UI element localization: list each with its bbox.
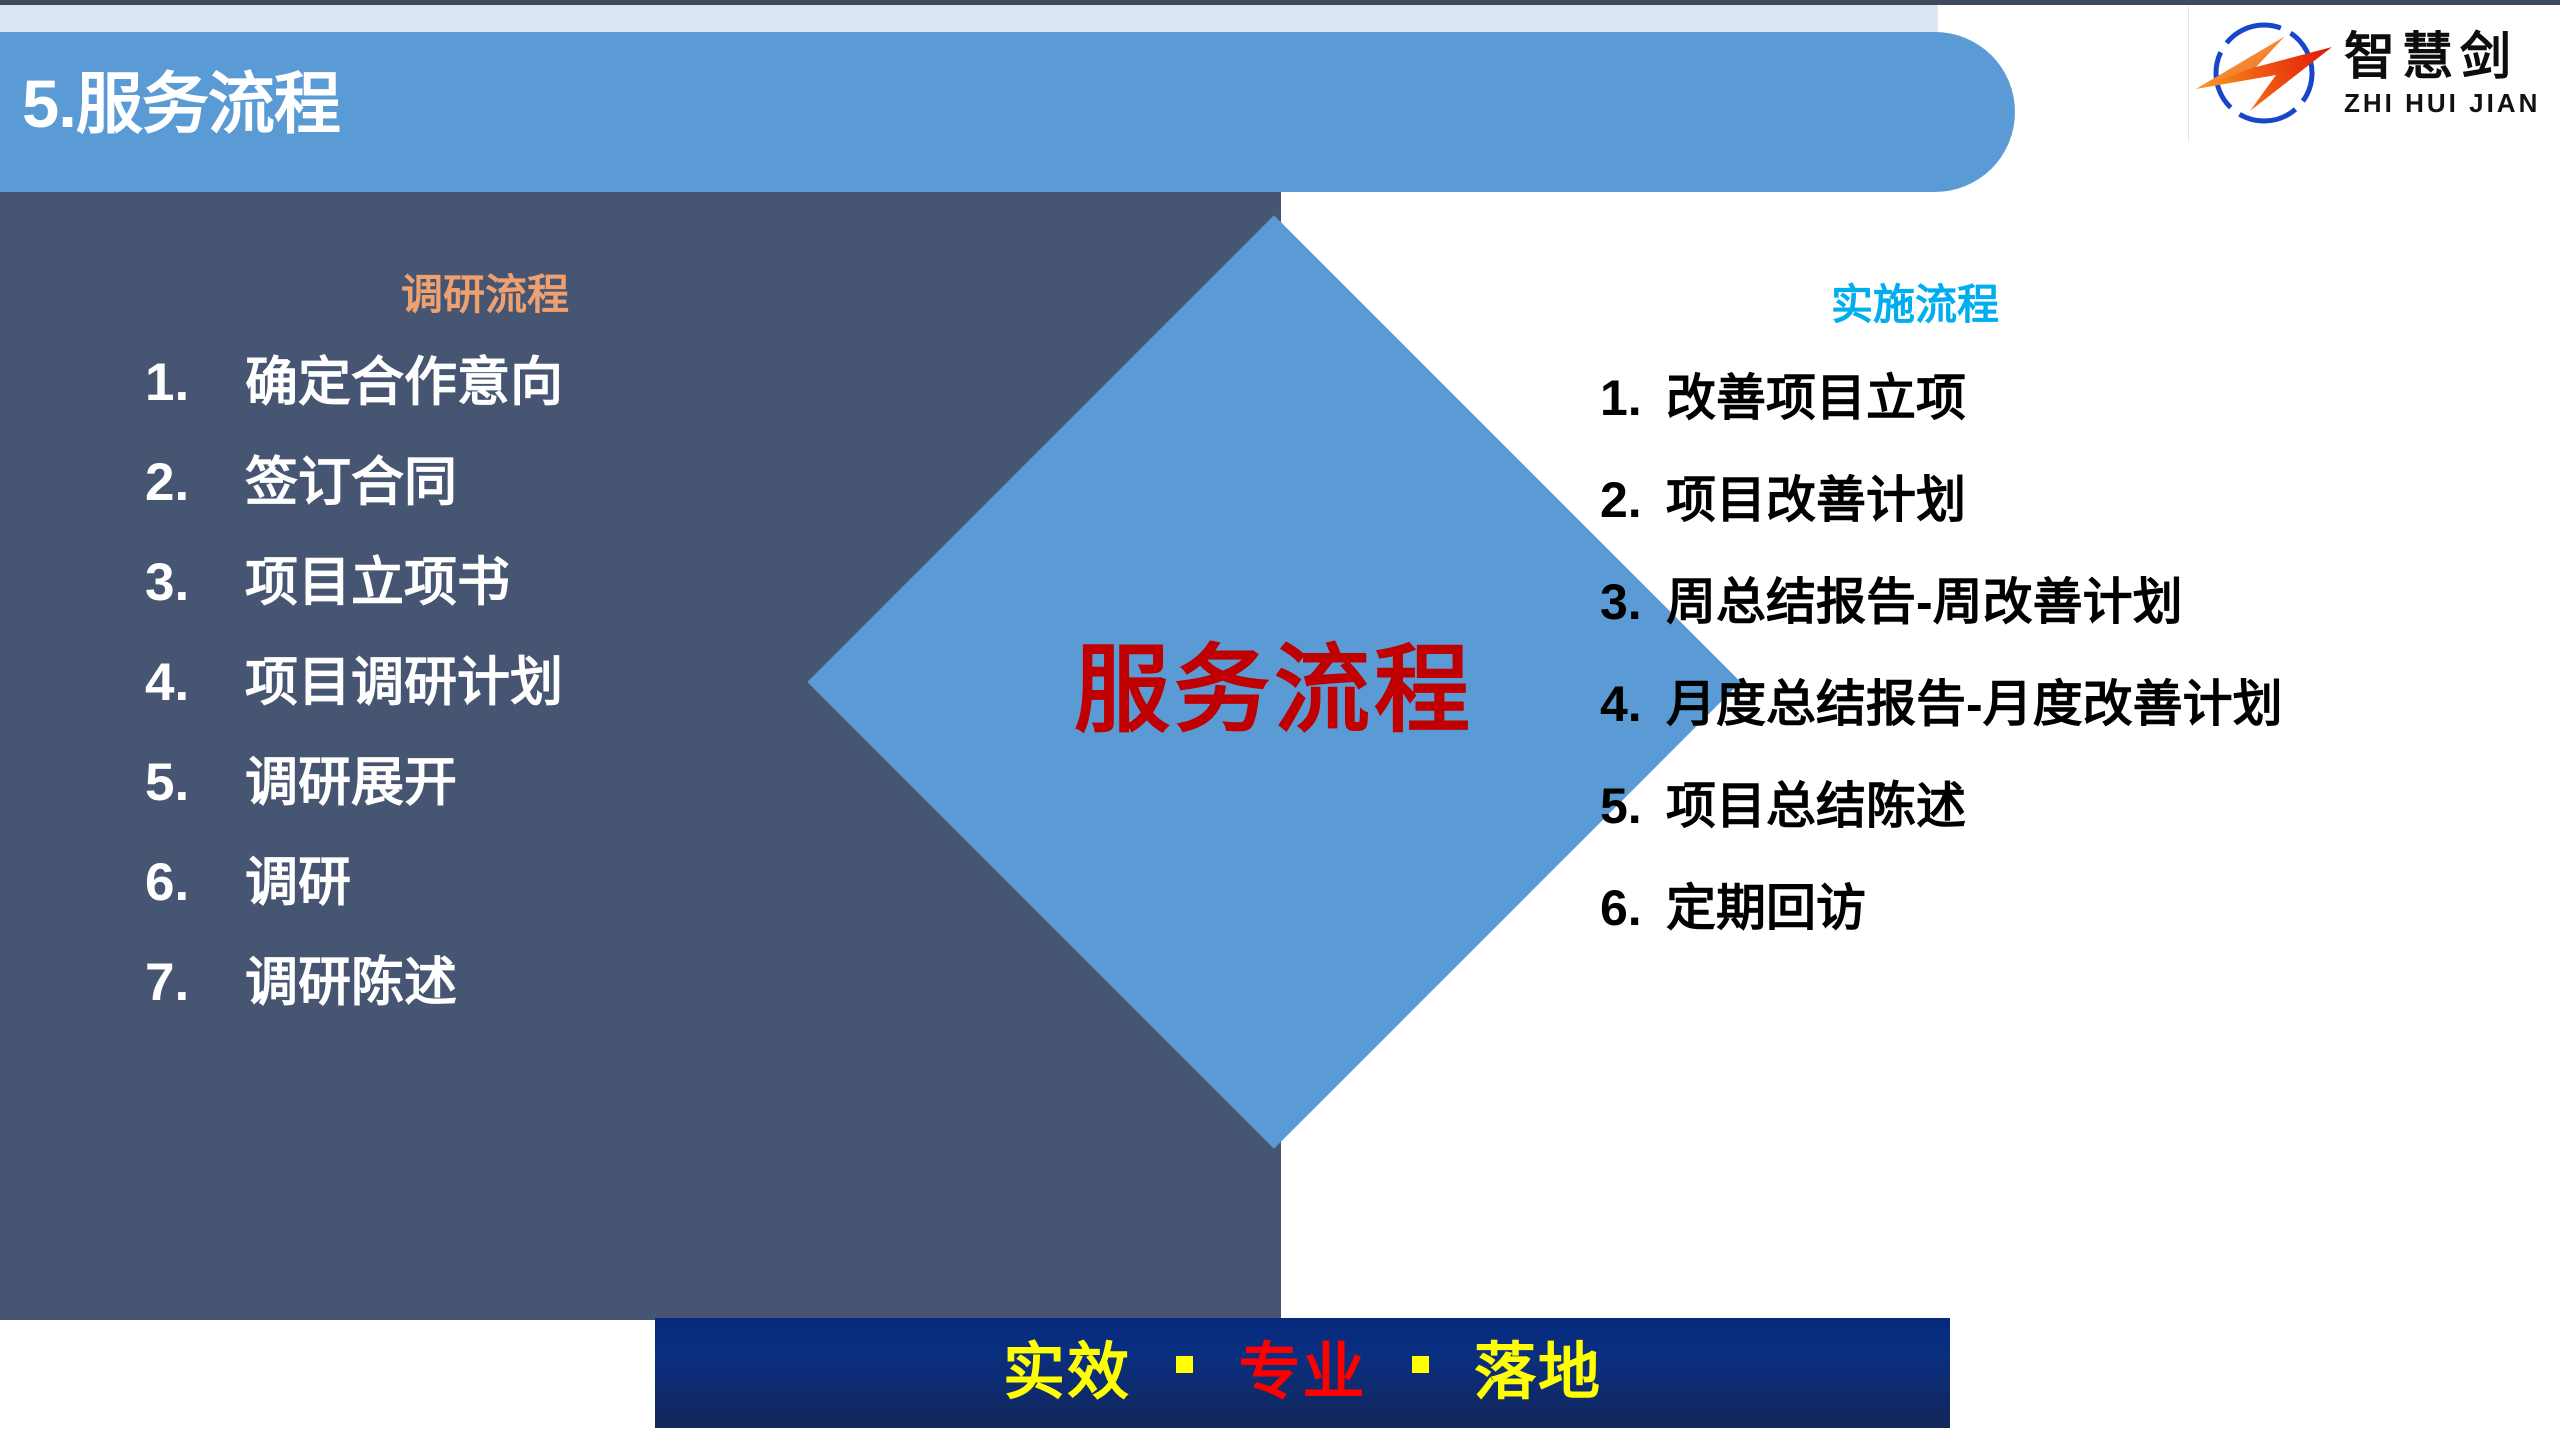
list-item-number: 6. xyxy=(145,852,245,913)
list-item-label: 调研展开 xyxy=(245,740,457,816)
list-item-label: 周总结报告-周改善计划 xyxy=(1666,562,2183,634)
research-flow-column: 调研流程 1. 确定合作意向 2. 签订合同 3. 项目立项书 4. 项目调研计… xyxy=(60,272,890,1040)
list-item-label: 调研陈述 xyxy=(245,940,457,1016)
implementation-flow-heading: 实施流程 xyxy=(1600,282,2540,328)
list-item-number: 6. xyxy=(1600,879,1666,937)
list-item-number: 3. xyxy=(145,552,245,613)
slogan-banner: 实效 专业 落地 xyxy=(655,1318,1950,1428)
list-item-label: 改善项目立项 xyxy=(1666,358,1966,430)
lightning-bolt-icon xyxy=(2188,7,2340,141)
slide-canvas: 5.服务流程 xyxy=(0,0,2560,1440)
list-item: 1. 改善项目立项 xyxy=(1600,358,2540,430)
list-item-number: 3. xyxy=(1600,573,1666,631)
list-item-label: 定期回访 xyxy=(1666,868,1866,940)
list-item: 4. 项目调研计划 xyxy=(145,640,890,716)
list-item: 6. 调研 xyxy=(145,840,890,916)
slogan-part-3: 落地 xyxy=(1474,1338,1602,1407)
slogan-part-2: 专业 xyxy=(1238,1338,1366,1407)
list-item: 5. 项目总结陈述 xyxy=(1600,766,2540,838)
list-item-label: 月度总结报告-月度改善计划 xyxy=(1666,664,2283,736)
logo-wordmark: 智慧剑 ZHI HUI JIAN xyxy=(2344,33,2540,116)
logo-chinese-name: 智慧剑 xyxy=(2344,33,2540,84)
list-item-number: 7. xyxy=(145,952,245,1013)
center-diamond-label: 服务流程 xyxy=(944,612,1604,751)
implementation-flow-list: 1. 改善项目立项 2. 项目改善计划 3. 周总结报告-周改善计划 4. 月度… xyxy=(1600,358,2540,940)
list-item-number: 4. xyxy=(145,652,245,713)
list-item-number: 4. xyxy=(1600,675,1666,733)
page-title: 5.服务流程 xyxy=(22,50,340,147)
slogan-part-1: 实效 xyxy=(1003,1338,1131,1407)
slogan-separator-dot xyxy=(1176,1356,1193,1373)
list-item: 3. 周总结报告-周改善计划 xyxy=(1600,562,2540,634)
list-item: 2. 项目改善计划 xyxy=(1600,460,2540,532)
top-light-strip xyxy=(0,5,1938,32)
list-item: 4. 月度总结报告-月度改善计划 xyxy=(1600,664,2540,736)
implementation-flow-column: 实施流程 1. 改善项目立项 2. 项目改善计划 3. 周总结报告-周改善计划 … xyxy=(1600,282,2540,970)
list-item-number: 5. xyxy=(145,752,245,813)
list-item-number: 1. xyxy=(1600,369,1666,427)
list-item-label: 调研 xyxy=(245,840,351,916)
research-flow-heading: 调研流程 xyxy=(60,272,890,318)
logo-english-name: ZHI HUI JIAN xyxy=(2344,90,2540,116)
list-item-label: 签订合同 xyxy=(245,440,457,516)
list-item: 3. 项目立项书 xyxy=(145,540,890,616)
list-item-number: 5. xyxy=(1600,777,1666,835)
list-item: 6. 定期回访 xyxy=(1600,868,2540,940)
research-flow-list: 1. 确定合作意向 2. 签订合同 3. 项目立项书 4. 项目调研计划 5. … xyxy=(60,340,890,1016)
brand-logo: 智慧剑 ZHI HUI JIAN xyxy=(2188,6,2560,142)
list-item-number: 2. xyxy=(1600,471,1666,529)
list-item-label: 项目调研计划 xyxy=(245,640,563,716)
list-item-label: 项目立项书 xyxy=(245,540,510,616)
list-item-label: 项目总结陈述 xyxy=(1666,766,1966,838)
slogan-text: 实效 专业 落地 xyxy=(1003,1342,1602,1404)
list-item: 2. 签订合同 xyxy=(145,440,890,516)
list-item-number: 1. xyxy=(145,352,245,413)
list-item: 1. 确定合作意向 xyxy=(145,340,890,416)
list-item: 5. 调研展开 xyxy=(145,740,890,816)
list-item-label: 项目改善计划 xyxy=(1666,460,1966,532)
list-item: 7. 调研陈述 xyxy=(145,940,890,1016)
slogan-separator-dot xyxy=(1412,1356,1429,1373)
list-item-label: 确定合作意向 xyxy=(245,340,563,416)
list-item-number: 2. xyxy=(145,452,245,513)
